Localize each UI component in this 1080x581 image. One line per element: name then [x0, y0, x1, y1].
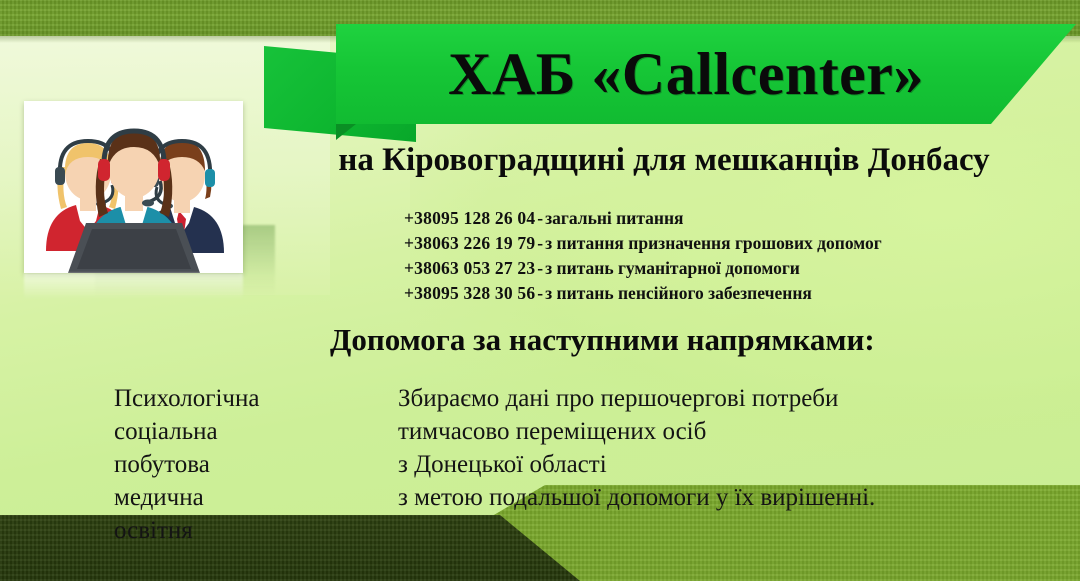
directions-list-item: Психологічна — [114, 382, 384, 415]
page-subtitle: на Кіровоградщині для мешканців Донбасу — [258, 142, 1070, 180]
phone-purpose: загальні питання — [545, 208, 683, 228]
phone-number[interactable]: +38063 053 27 23 — [404, 258, 535, 278]
phone-list-item: +38095 328 30 56-з питань пенсійного заб… — [404, 281, 1044, 306]
description-line: тимчасово переміщених осіб — [398, 415, 1038, 448]
photo-reflection — [24, 273, 243, 299]
description-block: Збираємо дані про першочергові потреби т… — [398, 382, 1038, 514]
page-title: ХАБ «Callcenter» — [336, 24, 1036, 124]
phone-list-item: +38063 226 19 79-з питання призначення г… — [404, 231, 1044, 256]
description-line: з Донецької області — [398, 448, 1038, 481]
phone-number[interactable]: +38063 226 19 79 — [404, 233, 535, 253]
phone-number[interactable]: +38095 328 30 56 — [404, 283, 535, 303]
operators-illustration — [24, 101, 243, 273]
description-line: з метою подальшої допомоги у їх вирішенн… — [398, 481, 1038, 514]
phone-separator: - — [535, 233, 545, 253]
phone-list-item: +38095 128 26 04-загальні питання — [404, 206, 1044, 231]
phone-number[interactable]: +38095 128 26 04 — [404, 208, 535, 228]
title-ribbon: ХАБ «Callcenter» — [264, 24, 1076, 146]
directions-list-item: освітня — [114, 514, 384, 547]
phone-separator: - — [535, 208, 545, 228]
phone-purpose: з питання призначення грошових допомог — [545, 233, 882, 253]
phone-list-item: +38063 053 27 23-з питань гуманітарної д… — [404, 256, 1044, 281]
phone-separator: - — [535, 258, 545, 278]
laptop — [68, 223, 200, 273]
phone-purpose: з питань пенсійного забезпечення — [545, 283, 812, 303]
phone-separator: - — [535, 283, 545, 303]
phone-list: +38095 128 26 04-загальні питання +38063… — [404, 206, 1044, 306]
directions-heading: Допомога за наступними напрямками: — [330, 322, 1030, 358]
directions-list-item: соціальна — [114, 415, 384, 448]
description-line: Збираємо дані про першочергові потреби — [398, 382, 1038, 415]
directions-list: Психологічна соціальна побутова медична … — [114, 382, 384, 547]
directions-list-item: медична — [114, 481, 384, 514]
phone-purpose: з питань гуманітарної допомоги — [545, 258, 800, 278]
call-center-operators-photo — [24, 101, 243, 273]
directions-list-item: побутова — [114, 448, 384, 481]
poster-root: ХАБ «Callcenter» на Кіровоградщині для м… — [0, 0, 1080, 581]
